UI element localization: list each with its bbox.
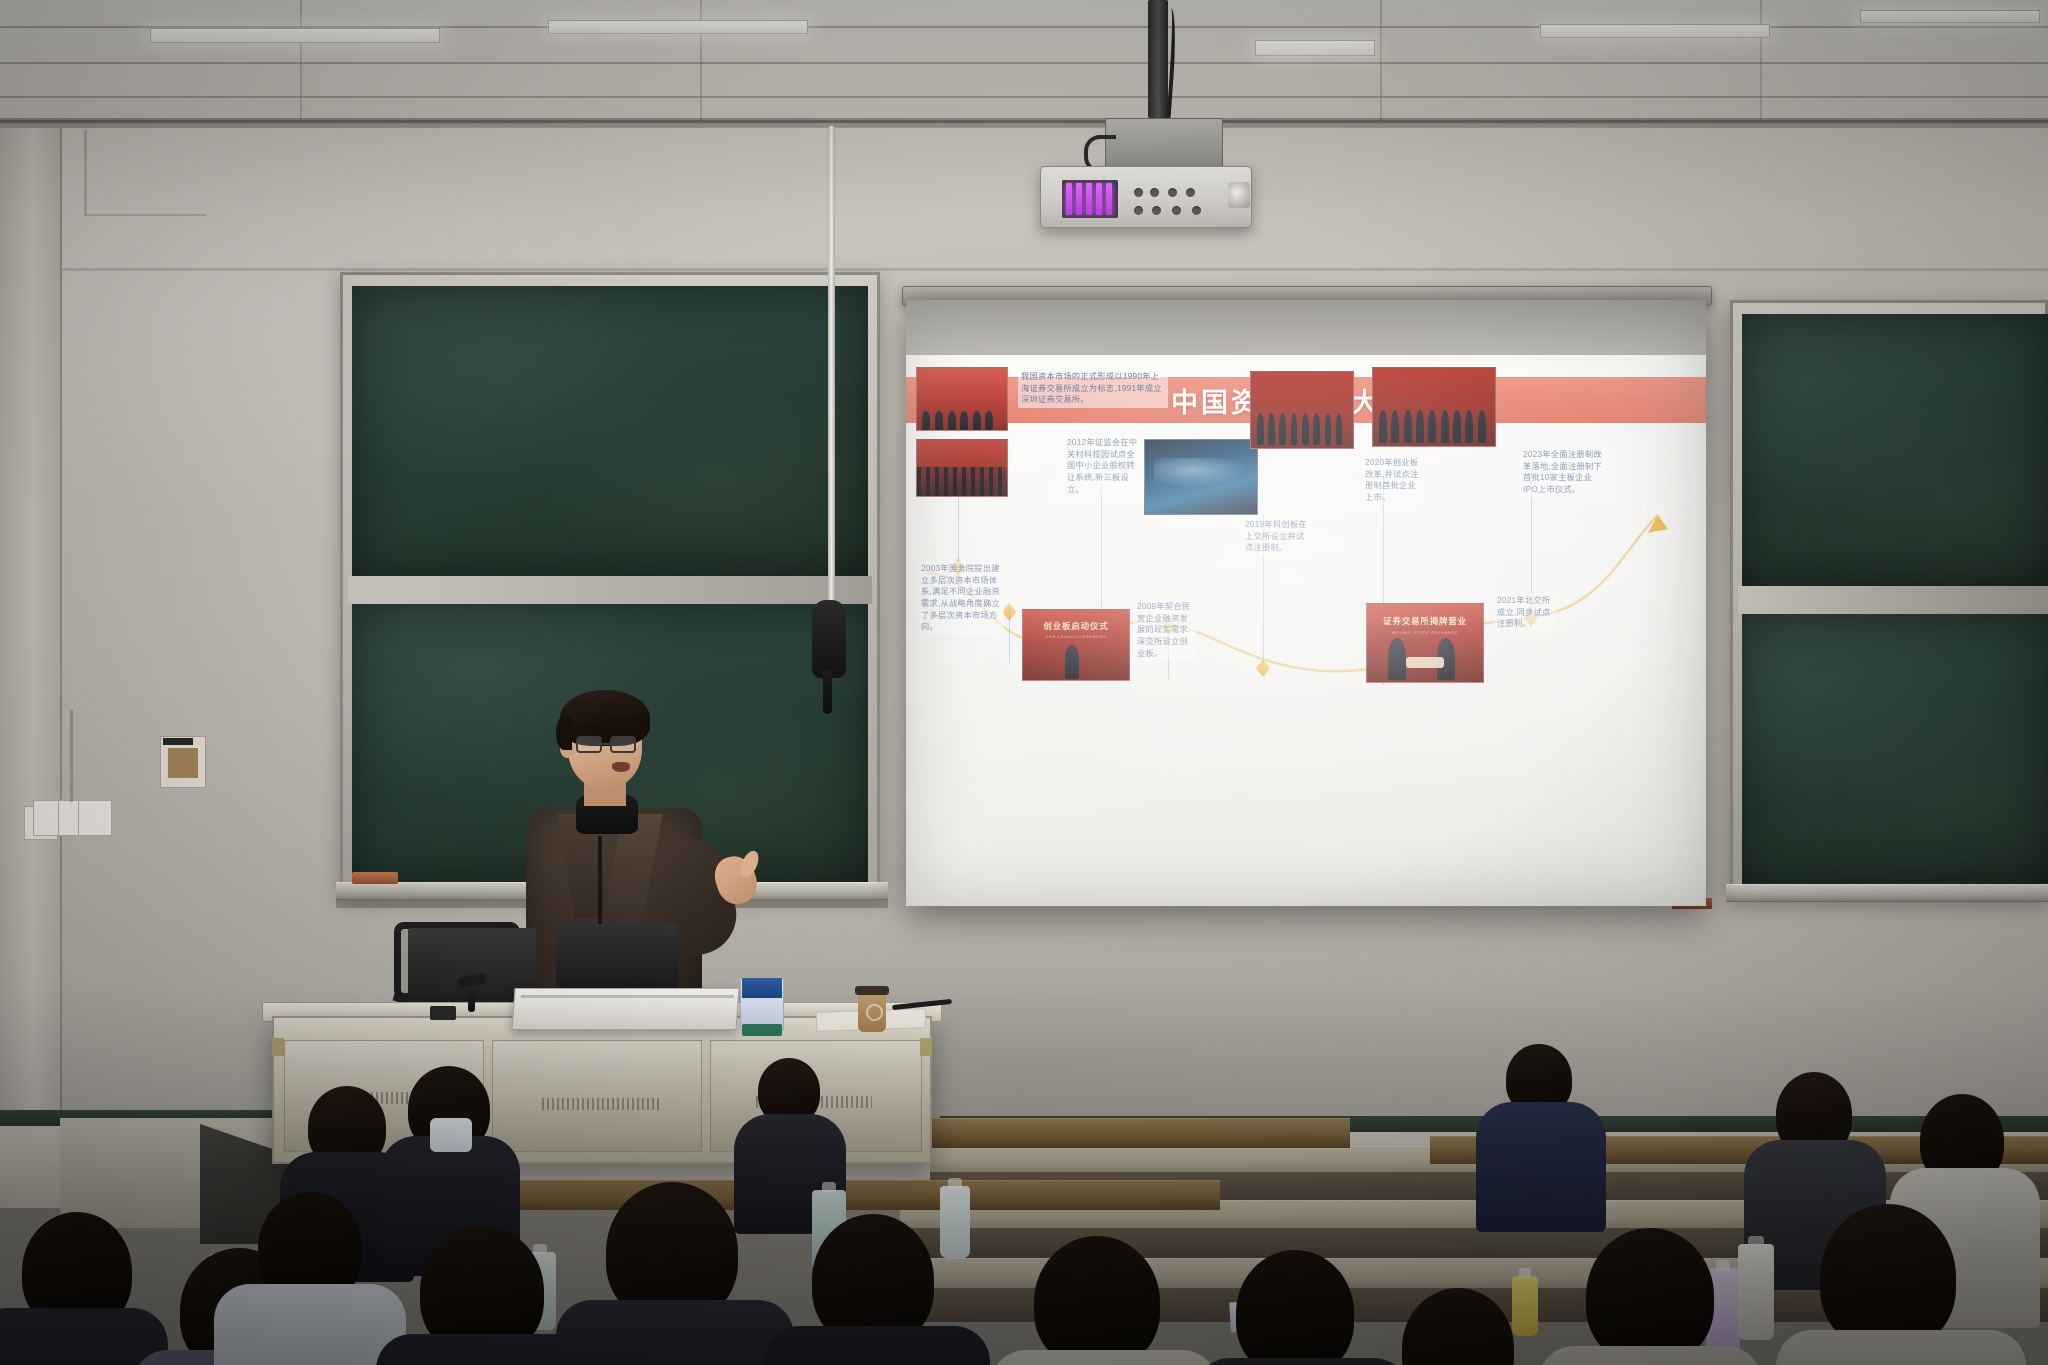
slide-photo-2023 <box>1372 367 1496 447</box>
light-switch[interactable] <box>78 800 112 836</box>
photo-subcaption-chuangyeban: GEM LAUNCH CEREMONY <box>1023 635 1129 639</box>
projector-ports <box>1132 186 1228 220</box>
wall-conduit <box>70 710 73 802</box>
right-blackboard-lower <box>1742 614 2048 884</box>
thermos[interactable] <box>1738 1244 1774 1340</box>
blackboard-divider <box>348 576 872 604</box>
lecture-hall-scene: 中国资本市场大事记 <box>0 0 2048 1365</box>
slide-event-text-2009: 2009年契合民营企业融资发展的现实需求,深交所设立创业板。 <box>1134 599 1196 661</box>
podium-panel[interactable] <box>492 1040 702 1152</box>
student-body <box>764 1326 990 1365</box>
ceiling-light <box>1860 10 2040 23</box>
podium-vent <box>542 1098 662 1110</box>
photo-caption-beijing-exchange: 证券交易所揭牌营业 <box>1367 615 1483 627</box>
chalk-eraser[interactable] <box>352 872 398 884</box>
laptop[interactable] <box>512 988 740 1030</box>
tissue-box-band <box>742 978 782 998</box>
microphone[interactable] <box>468 982 475 1012</box>
podium-corner-trim <box>272 1038 284 1056</box>
right-blackboard-upper <box>1742 314 2048 586</box>
slide-photo-2020 <box>1250 371 1354 449</box>
student-head <box>1586 1228 1714 1364</box>
podium-corner-trim <box>920 1038 932 1056</box>
wall-pillar <box>0 128 62 1138</box>
projector-vent-icon <box>1062 180 1118 218</box>
ceiling-light <box>1540 24 1770 38</box>
small-green-object[interactable] <box>742 1024 782 1036</box>
screen-blank-band <box>906 300 1706 355</box>
student-head <box>1034 1236 1160 1365</box>
water-bottle[interactable] <box>940 1186 970 1258</box>
face-mask-icon <box>430 1118 472 1152</box>
desk-clutter <box>430 1006 456 1020</box>
student-body <box>0 1308 168 1365</box>
slide-event-text-2012: 2012年证监会在中关村科技园试点全国中小企业股权转让系统,新三板设立。 <box>1064 435 1142 497</box>
student-body <box>1194 1358 1410 1365</box>
wall-junction-box-inner <box>168 748 198 778</box>
slide-event-text-2019: 2019年科创板在上交所设立并试点注册制。 <box>1242 517 1312 556</box>
photo-caption-chuangyeban: 创业板启动仪式 <box>1023 620 1129 632</box>
ceiling-light <box>1255 40 1375 56</box>
coffee-cup-lid <box>855 986 889 995</box>
slide-event-text-2003: 2003年国务院提出建立多层次资本市场体系,满足不同企业融资需求,从战略角度确立… <box>918 561 1004 635</box>
student-body <box>1476 1102 1606 1232</box>
blackboard-divider <box>1738 586 2048 614</box>
slide-photo-1990 <box>916 367 1008 431</box>
student-body <box>214 1284 406 1365</box>
student-body <box>556 1300 794 1365</box>
chalk-rail-right <box>1726 884 2048 902</box>
projector-bracket <box>1105 118 1223 170</box>
photo-ribbon <box>1406 657 1443 668</box>
slide-event-text-2020: 2020年创业板改革,并试点注册制首批企业上市。 <box>1362 455 1424 506</box>
ceiling-light <box>150 28 440 43</box>
projection-screen: 中国资本市场大事记 <box>906 300 1706 906</box>
ceiling <box>0 0 2048 132</box>
student-head <box>1820 1204 1956 1350</box>
slide-photo-2012 <box>1144 439 1258 515</box>
projector-lens-icon <box>1228 182 1250 208</box>
presentation-slide: 中国资本市场大事记 <box>906 355 1706 906</box>
wall-seam <box>0 268 2048 271</box>
hanging-pole[interactable] <box>828 126 835 626</box>
left-blackboard-upper <box>352 286 868 576</box>
slide-photo-beijing-exchange: 证券交易所揭牌营业 BEIJING STOCK EXCHANGE <box>1366 603 1484 683</box>
student-desk-row <box>930 1118 1350 1148</box>
student-body <box>1538 1346 1762 1365</box>
ceiling-light <box>548 20 808 34</box>
coffee-cup[interactable] <box>858 992 886 1032</box>
student-body <box>1776 1330 2026 1365</box>
slide-photo-2003 <box>916 439 1008 497</box>
eyeglasses-icon <box>576 736 646 753</box>
water-bottle[interactable] <box>1512 1276 1538 1336</box>
timeline-stem <box>1009 607 1010 663</box>
photo-subcaption-beijing-exchange: BEIJING STOCK EXCHANGE <box>1367 631 1483 635</box>
student-head <box>1236 1250 1354 1365</box>
slide-event-text-1990: 我国资本市场的正式形成以1990年上海证券交易所成立为标志,1991年成立深圳证… <box>1018 369 1168 408</box>
wall-crack <box>86 214 206 216</box>
slide-photo-chuangyeban: 创业板启动仪式 GEM LAUNCH CEREMONY <box>1022 609 1130 681</box>
instructor-thumb <box>737 848 762 880</box>
student-body <box>990 1350 1218 1365</box>
wall-junction-label <box>163 738 193 745</box>
slide-event-text-2021: 2021年北交所成立,同步试点注册制。 <box>1494 593 1556 632</box>
pole-hook[interactable] <box>812 600 846 678</box>
wall-crack <box>84 130 87 216</box>
slide-event-text-2023: 2023年全面注册制改革落地,全面注册制下首批10家主板企业IPO上市仪式。 <box>1520 447 1610 498</box>
instructor-mouth <box>612 762 630 772</box>
